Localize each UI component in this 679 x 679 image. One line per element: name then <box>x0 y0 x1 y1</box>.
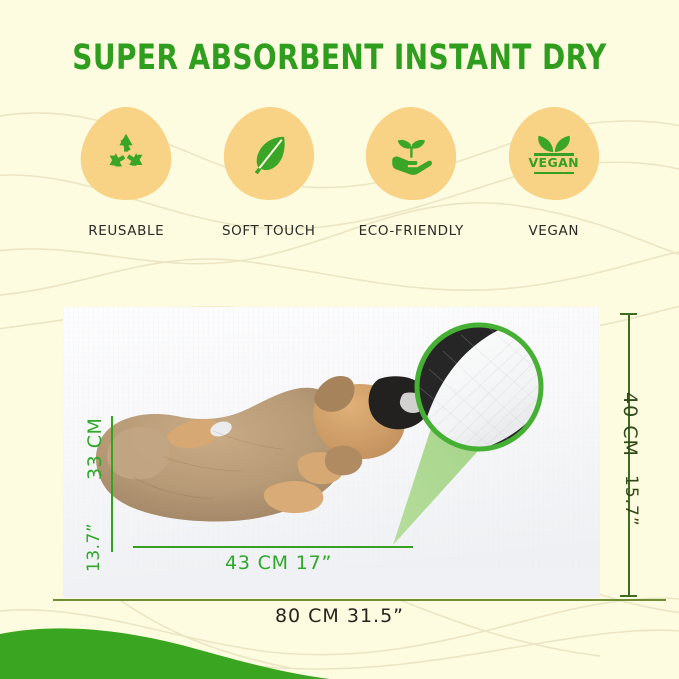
feature-item-vegan: VEGAN VEGAN <box>483 104 626 254</box>
feature-item-reusable: REUSABLE <box>55 104 198 254</box>
dimension-label-pad-width: 80 CM 31.5” <box>0 605 679 627</box>
vegan-rule-bottom <box>534 172 574 174</box>
two-leaves-icon <box>533 134 575 153</box>
dimension-label-pad-height-in: 15.7” <box>621 475 641 527</box>
dimension-label-dog-height-cm: 33 CM <box>84 418 106 480</box>
dimension-line-dog-width <box>133 546 413 548</box>
dimension-line-pad-width <box>53 599 666 601</box>
feature-label-soft-touch: SOFT TOUCH <box>222 223 316 239</box>
hand-sprout-icon <box>382 125 440 183</box>
dimension-label-dog-width: 43 CM 17” <box>225 552 332 574</box>
infographic-canvas: SUPER ABSORBENT INSTANT DRY <box>0 0 679 679</box>
dimension-cap-top <box>620 313 637 315</box>
page-title: SUPER ABSORBENT INSTANT DRY <box>68 38 611 78</box>
feature-blob-vegan: VEGAN <box>504 104 604 204</box>
feather-leaf-icon <box>240 125 298 183</box>
feature-label-vegan: VEGAN <box>528 223 579 239</box>
feature-blob-eco-friendly <box>361 104 461 204</box>
dimension-cap-bottom <box>620 595 637 597</box>
vegan-badge-icon: VEGAN <box>525 125 583 183</box>
dimension-label-pad-height-cm: 40 CM <box>619 392 641 457</box>
recycle-icon <box>97 125 155 183</box>
feature-item-soft-touch: SOFT TOUCH <box>198 104 341 254</box>
dimension-line-dog-height <box>111 416 113 552</box>
feature-label-reusable: REUSABLE <box>88 223 164 239</box>
vegan-badge-text: VEGAN <box>528 156 579 172</box>
feature-highlights-row: REUSABLE SOFT TOUCH <box>55 104 625 254</box>
feature-blob-soft-touch <box>219 104 319 204</box>
feature-label-eco-friendly: ECO-FRIENDLY <box>359 223 464 239</box>
feature-blob-reusable <box>76 104 176 204</box>
dimension-label-dog-height-in: 13.7” <box>84 523 104 572</box>
feature-item-eco-friendly: ECO-FRIENDLY <box>340 104 483 254</box>
